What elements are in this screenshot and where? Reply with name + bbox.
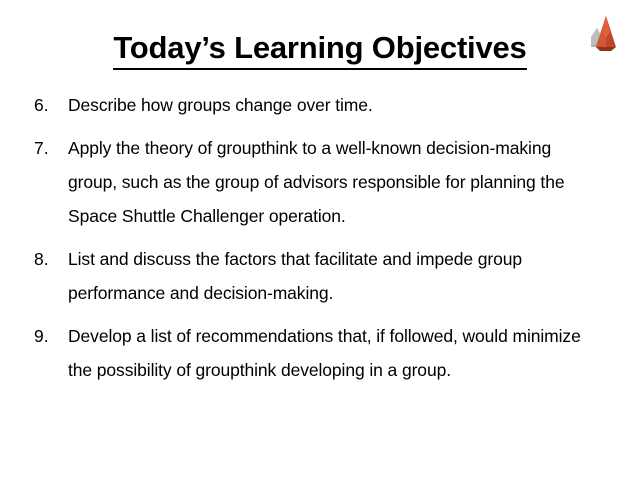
list-item-number: 9. bbox=[34, 319, 68, 353]
list-item: 6. Describe how groups change over time. bbox=[34, 88, 594, 122]
list-item: 8. List and discuss the factors that fac… bbox=[34, 242, 594, 310]
list-item-text: Develop a list of recommendations that, … bbox=[68, 319, 588, 387]
list-item-text: Describe how groups change over time. bbox=[68, 88, 588, 122]
list-item-number: 6. bbox=[34, 88, 68, 122]
list-item-text: List and discuss the factors that facili… bbox=[68, 242, 588, 310]
list-item: 7. Apply the theory of groupthink to a w… bbox=[34, 131, 594, 233]
page-title: Today’s Learning Objectives bbox=[113, 30, 526, 70]
list-item-text: Apply the theory of groupthink to a well… bbox=[68, 131, 588, 233]
slide-canvas: Today’s Learning Objectives 6. Describe … bbox=[0, 0, 640, 480]
list-item-number: 7. bbox=[34, 131, 68, 165]
objectives-list: 6. Describe how groups change over time.… bbox=[34, 88, 594, 396]
list-item-number: 8. bbox=[34, 242, 68, 276]
page-title-container: Today’s Learning Objectives bbox=[0, 30, 640, 70]
list-item: 9. Develop a list of recommendations tha… bbox=[34, 319, 594, 387]
